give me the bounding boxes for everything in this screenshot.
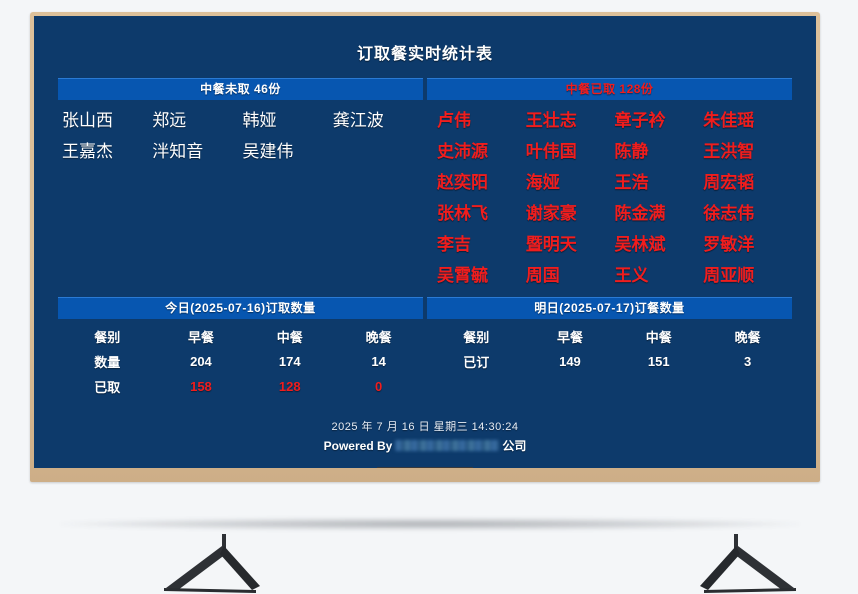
person-name: 卢伟 [437,108,526,134]
person-name: 罗敏洋 [703,232,792,258]
page-title: 订取餐实时统计表 [34,16,816,78]
table-cell-value: 158 [157,374,246,399]
person-name: 王浩 [615,170,704,196]
company-suffix-label: 公司 [502,437,526,454]
table-cell-value: 3 [703,349,792,374]
table-cell-value: 149 [526,349,615,374]
table-row-label: 已取 [58,374,157,399]
lunch-unpicked-panel: 中餐未取 46份 张山西郑远韩娅龚江波王嘉杰泮知音吴建伟 [58,78,423,169]
person-name: 赵奕阳 [437,170,526,196]
table-column-header: 早餐 [157,324,246,349]
lunch-picked-name-grid: 卢伟王壮志章子衿朱佳瑶史沛源叶伟国陈静王洪智赵奕阳海娅王浩周宏韬张林飞谢家豪陈金… [427,100,792,293]
table-column-header: 中餐 [245,324,334,349]
person-name: 史沛源 [437,139,526,165]
lunch-picked-header: 中餐已取 128份 [427,78,792,100]
tv-screen: 订取餐实时统计表 中餐未取 46份 张山西郑远韩娅龚江波王嘉杰泮知音吴建伟 中餐… [34,16,816,468]
person-name: 吴霄毓 [437,263,526,289]
table-column-header: 晚餐 [703,324,792,349]
person-name: 朱佳瑶 [703,108,792,134]
person-name: 章子衿 [615,108,704,134]
table-cell-value: 151 [614,349,703,374]
person-name: 吴林斌 [615,232,704,258]
person-name: 陈金满 [615,201,704,227]
person-name: 王洪智 [703,139,792,165]
table-header-row: 餐别早餐中餐晚餐 [427,324,792,349]
powered-by-label: Powered By [324,439,393,453]
footer-powered-by: Powered By 公司 [34,437,816,454]
table-row: 已订1491513 [427,349,792,374]
table-cell-value: 128 [245,374,334,399]
table-row-label: 数量 [58,349,157,374]
table-row: 已取1581280 [58,374,423,399]
table-cell-value: 174 [245,349,334,374]
table-column-header: 餐别 [58,324,157,349]
today-panel: 今日(2025-07-16)订取数量 餐别早餐中餐晚餐数量20417414已取1… [58,297,423,399]
table-column-header: 早餐 [526,324,615,349]
tomorrow-table-header: 明日(2025-07-17)订餐数量 [427,297,792,319]
person-name: 周亚顺 [703,263,792,289]
person-name: 徐志伟 [703,201,792,227]
counts-band: 今日(2025-07-16)订取数量 餐别早餐中餐晚餐数量20417414已取1… [34,297,816,399]
tv-device: 订取餐实时统计表 中餐未取 46份 张山西郑远韩娅龚江波王嘉杰泮知音吴建伟 中餐… [30,12,820,482]
person-name: 泮知音 [152,139,242,165]
footer: 2025 年 7 月 16 日 星期三 14:30:24 Powered By … [34,418,816,468]
table-column-header: 中餐 [614,324,703,349]
person-name: 海娅 [526,170,615,196]
table-cell-value: 204 [157,349,246,374]
person-name: 龚江波 [333,108,423,134]
table-row: 数量20417414 [58,349,423,374]
tv-bezel: 订取餐实时统计表 中餐未取 46份 张山西郑远韩娅龚江波王嘉杰泮知音吴建伟 中餐… [30,12,820,482]
table-row-label: 已订 [427,349,526,374]
tomorrow-count-table: 餐别早餐中餐晚餐已订1491513 [427,324,792,374]
company-name-redacted-block [395,440,499,451]
person-name: 张林飞 [437,201,526,227]
person-name: 王嘉杰 [62,139,152,165]
tomorrow-panel: 明日(2025-07-17)订餐数量 餐别早餐中餐晚餐已订1491513 [427,297,792,399]
person-name: 王义 [615,263,704,289]
table-cell-value: 14 [334,349,423,374]
tv-ir-sensor [377,467,473,468]
person-name: 周宏韬 [703,170,792,196]
dashboard: 订取餐实时统计表 中餐未取 46份 张山西郑远韩娅龚江波王嘉杰泮知音吴建伟 中餐… [34,16,816,468]
table-column-header: 餐别 [427,324,526,349]
person-name: 谢家豪 [526,201,615,227]
table-column-header: 晚餐 [334,324,423,349]
person-name: 周国 [526,263,615,289]
person-name: 暨明天 [526,232,615,258]
names-band: 中餐未取 46份 张山西郑远韩娅龚江波王嘉杰泮知音吴建伟 中餐已取 128份 卢… [34,78,816,293]
lunch-unpicked-header: 中餐未取 46份 [58,78,423,100]
lunch-picked-panel: 中餐已取 128份 卢伟王壮志章子衿朱佳瑶史沛源叶伟国陈静王洪智赵奕阳海娅王浩周… [427,78,792,293]
person-name: 王壮志 [526,108,615,134]
table-cell-value: 0 [334,374,423,399]
person-name: 叶伟国 [526,139,615,165]
today-count-table: 餐别早餐中餐晚餐数量20417414已取1581280 [58,324,423,399]
tv-floor-shadow [60,518,800,530]
person-name: 张山西 [62,108,152,134]
person-name: 韩娅 [243,108,333,134]
today-table-header: 今日(2025-07-16)订取数量 [58,297,423,319]
person-name: 陈静 [615,139,704,165]
table-header-row: 餐别早餐中餐晚餐 [58,324,423,349]
person-name: 吴建伟 [243,139,333,165]
person-name: 郑远 [152,108,242,134]
footer-datetime: 2025 年 7 月 16 日 星期三 14:30:24 [34,418,816,434]
person-name: 李吉 [437,232,526,258]
lunch-unpicked-name-grid: 张山西郑远韩娅龚江波王嘉杰泮知音吴建伟 [58,100,423,169]
